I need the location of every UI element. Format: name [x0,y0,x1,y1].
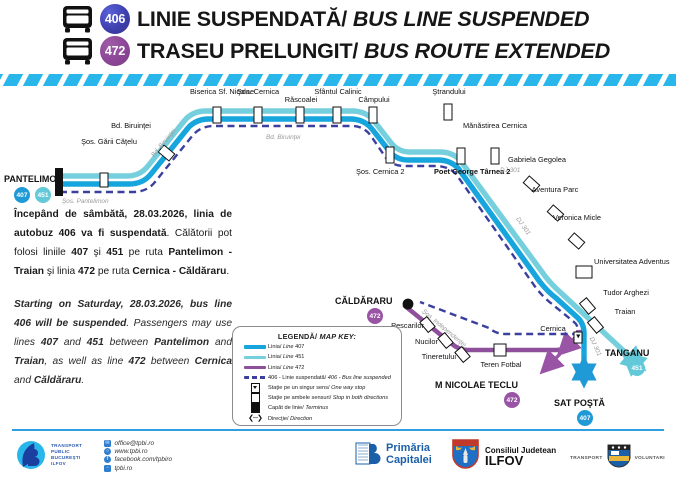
terminus-badge-407-sat-posta: 407 [577,410,593,426]
terminus-label-pantelimon: PANTELIMON [4,174,63,184]
bus-icon [62,37,93,66]
contact-facebook[interactable]: f facebook.com/tpbiro [104,456,172,464]
terminus-badge-451-pantelimon: 451 [35,187,51,203]
stop-label-tudor-arghezi: Tudor Arghezi [598,289,654,298]
terminus-label-tanganu: TANGANU [605,348,649,358]
facebook-icon: f [104,456,111,463]
header-title-472: TRASEU PRELUNGIT/ BUS ROUTE EXTENDED [137,39,610,64]
header-row-472: 472 TRASEU PRELUNGIT/ BUS ROUTE EXTENDED [62,36,610,66]
transport-voluntari-word-right: VOLUNTARI [635,456,665,461]
stop-label-bd-biruintei: Bd. Biruinţei [100,122,162,131]
header-title-406-ro: LINIE SUSPENDATĂ/ [137,7,347,31]
notice-paragraph-en: Starting on Saturday, 28.03.2026, bus li… [14,295,232,390]
contact-list: ✉ office@tpbi.ro ○ www.tpbi.ro f faceboo… [104,439,172,473]
stop-label-nucilor: Nucilor [396,338,438,347]
poster-footer: TRANSPORT PUBLIC BUCUREŞTI ILFOV ✉ offic… [0,434,676,478]
stop-label-tineretului: Tineretului [404,353,456,362]
line-swatch-472-icon [242,366,268,369]
ilfov-coat-of-arms-icon [452,439,479,474]
stop-label-sos-garii-catelu: Şos. Gării Căţelu [80,138,138,147]
street-label-bd-biruintei: Bd. Biruinţei [266,134,300,141]
tpbi-logo: TRANSPORT PUBLIC BUCUREŞTI ILFOV [16,440,82,470]
legend-item-both-way-stop: Staţie pe ambele sensuri/ Stop in both d… [242,394,401,402]
mail-icon: ✉ [104,440,111,447]
stop-label-sos-cernica: Şos. Cernica [236,88,280,97]
street-label-sos-pantelimon: Şos. Pantelimon [62,198,109,205]
stop-label-aventura-parc: Aventura Parc [530,186,580,195]
header-title-406-en: BUS LINE SUSPENDED [353,7,590,31]
header-title-472-ro: TRASEU PRELUNGIT/ [137,39,358,63]
contact-instagram[interactable]: ▫ tpbi.ro [104,464,172,472]
primaria-capitalei-logo: PrimăriaCapitalei [355,440,432,467]
terminus-badge-472-teclu: 472 [504,392,520,408]
direction-icon: ❮─❯ [242,415,268,422]
stop-label-poet-george-tarnea-2: Poet George Târnea 2 [434,168,490,177]
legend-box: LEGENDĂ/ MAP KEY: Linia/ Line 407 Linia/… [232,326,402,426]
line-badge-406: 406 [100,4,130,34]
header-row-406: 406 LINIE SUSPENDATĂ/ BUS LINE SUSPENDED [62,4,589,34]
notice-paragraph-ro: Începând de sâmbătă, 28.03.2026, linia d… [14,205,232,281]
legend-item-terminus: Capăt de linie/ Terminus [242,404,401,412]
primaria-wordmark: PrimăriaCapitalei [386,442,432,466]
line-swatch-451-icon [242,356,268,359]
tpbi-mark-icon [16,440,46,470]
legend-item-line-451: Linia/ Line 451 [242,353,401,361]
legend-item-line-407: Linia/ Line 407 [242,343,401,351]
header-title-472-en: BUS ROUTE EXTENDED [364,39,610,63]
legend-item-direction: ❮─❯ Direcţie/ Direction [242,415,401,423]
decorative-chevron-band [0,74,676,86]
terminus-marker-caldararu [403,299,414,310]
primaria-mark-icon [355,440,381,467]
legend-item-line-406-suspended: 406 - Linie suspendată/ 406 - Bus line s… [242,374,401,382]
contact-website[interactable]: ○ www.tpbi.ro [104,447,172,455]
stop-label-veronica-micle: Veronica Micle [552,214,602,223]
line-badge-472: 472 [100,36,130,66]
terminus-badge-407-pantelimon: 407 [14,187,30,203]
stop-label-rascoalei: Răscoalei [278,96,324,105]
stop-label-universitatea-adventus: Universitatea Adventus [594,258,658,267]
ilfov-wordmark: Consiliul JudeteanILFOV [485,446,556,468]
poster-root: 406 LINIE SUSPENDATĂ/ BUS LINE SUSPENDED… [0,0,676,478]
tpbi-wordmark: TRANSPORT PUBLIC BUCUREŞTI ILFOV [51,443,82,467]
street-label-dj-301-a: DJ 301 [500,167,520,174]
one-way-stop-icon [242,383,268,393]
terminus-label-sat-posta: SAT POŞTĂ [554,398,605,408]
legend-title: LEGENDĂ/ MAP KEY: [233,332,401,341]
contact-email-text: office@tpbi.ro [115,440,155,447]
header-title-406: LINIE SUSPENDATĂ/ BUS LINE SUSPENDED [137,7,589,32]
contact-website-text: www.tpbi.ro [115,448,148,455]
bus-icon [62,5,93,34]
legend-item-line-472: Linia/ Line 472 [242,364,401,372]
stop-label-strandului: Ştrandului [424,88,474,97]
stop-label-gabriela-gegolea: Gabriela Gegolea [508,156,562,165]
stop-label-campului: Câmpului [349,96,399,105]
dashed-line-swatch-icon [242,376,268,379]
both-way-stop-icon [242,393,268,403]
voluntari-crest-icon [607,444,631,473]
footer-divider [12,429,664,431]
notice-text-block: Începând de sâmbătă, 28.03.2026, linia d… [14,205,232,390]
transport-voluntari-logo: TRANSPORT VOLUNTARI [570,444,665,473]
globe-icon: ○ [104,448,111,455]
stop-label-sos-cernica-2: Şos. Cernica 2 [356,168,404,177]
instagram-icon: ▫ [104,465,111,472]
terminus-badge-472-caldararu: 472 [367,308,383,324]
stop-label-teren-fotbal: Teren Fotbal [479,361,523,370]
terminus-icon [242,403,268,413]
contact-email[interactable]: ✉ office@tpbi.ro [104,439,172,447]
legend-item-one-way-stop: Staţie pe un singur sens/ One way stop [242,384,401,392]
terminus-label-caldararu: CĂLDĂRARU [335,296,393,306]
poster-header: 406 LINIE SUSPENDATĂ/ BUS LINE SUSPENDED… [0,0,676,72]
consiliul-judetean-ilfov-logo: Consiliul JudeteanILFOV [452,439,556,474]
stop-label-traian: Traian [608,308,642,317]
stop-label-cernica: Cernica [533,325,573,334]
contact-facebook-text: facebook.com/tpbiro [115,456,173,463]
stop-label-manastirea-cernica: Mănăstirea Cernica [462,122,528,131]
terminus-badge-451-tanganu: 451 [629,360,645,376]
terminus-label-m-nicolae-teclu: M NICOLAE TECLU [435,380,518,390]
line-swatch-407-icon [242,345,268,348]
transport-voluntari-word-left: TRANSPORT [570,456,603,461]
contact-instagram-text: tpbi.ro [115,465,133,472]
